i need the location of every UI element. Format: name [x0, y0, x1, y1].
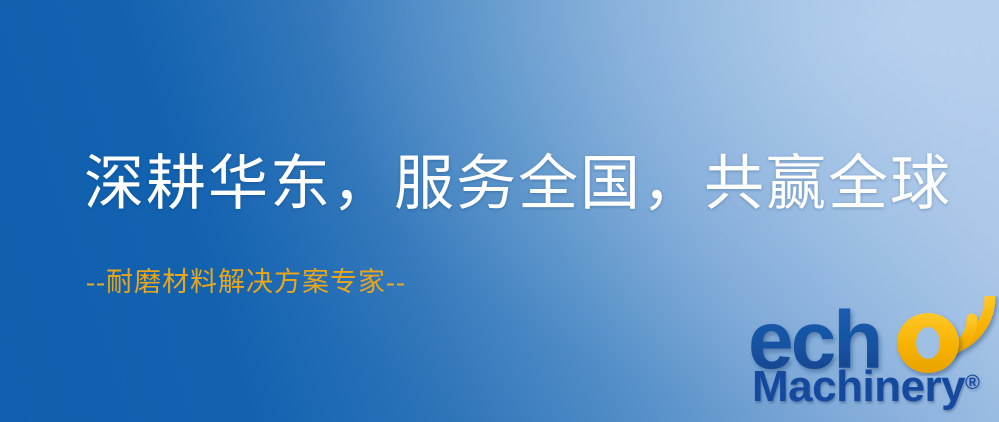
banner-headline: 深耕华东，服务全国，共赢全球 — [84, 152, 952, 217]
registered-trademark-icon: ® — [965, 372, 980, 394]
promo-banner: 深耕华东，服务全国，共赢全球 --耐磨材料解决方案专家-- — [0, 0, 999, 422]
banner-subtitle: --耐磨材料解决方案专家-- — [86, 266, 406, 298]
logo-wordmark-text: Machinery — [752, 362, 965, 411]
company-logo: ech Machinery® — [748, 296, 999, 422]
logo-wordmark: Machinery® — [752, 362, 980, 412]
